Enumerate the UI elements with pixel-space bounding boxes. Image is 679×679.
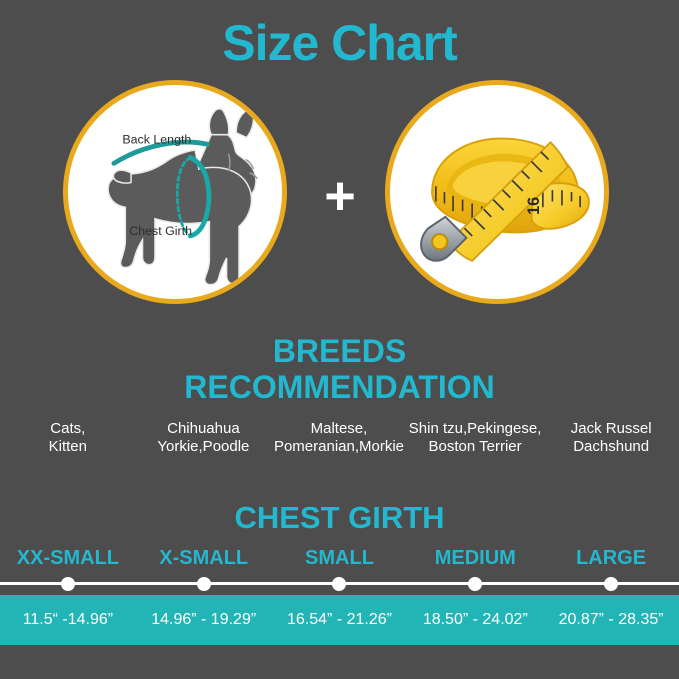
breed-cell: Maltese, Pomeranian,Morkie [271,420,407,456]
breed-line: Jack Russel [545,420,677,438]
breed-cell: Chihuahua Yorkie,Poodle [136,420,272,456]
tape-number-label: 16 [525,197,543,215]
measurement-bar: 11.5“ -14.96” 14.96” - 19.29” 16.54” - 2… [0,595,679,645]
breed-line: Kitten [2,438,134,456]
breed-line: Chihuahua [138,420,270,438]
breed-line: Pomeranian,Morkie [273,438,405,456]
measurement-large: 20.87” - 28.35” [543,611,679,629]
breeds-heading-line2: RECOMMENDATION [0,369,679,405]
breed-line: Yorkie,Poodle [138,438,270,456]
size-label-xxsmall: XX-SMALL [0,547,136,570]
size-labels-row: XX-SMALL X-SMALL SMALL MEDIUM LARGE [0,547,679,570]
dog-measurement-icon: Back Length Chest Girth [68,85,282,299]
breed-line: Dachshund [545,438,677,456]
breed-line: Shin tzu,Pekingese, [409,420,542,438]
illustration-row: Back Length Chest Girth + [0,80,679,308]
axis-dot-wrap [272,576,408,592]
axis-dot-medium [468,577,482,591]
size-label-medium: MEDIUM [407,547,543,570]
measuring-tape-circle: 16 [385,80,609,304]
breeds-heading: BREEDS RECOMMENDATION [0,333,679,405]
axis-dot-xxsmall [61,577,75,591]
chest-girth-label: Chest Girth [129,224,192,238]
axis-dot-xsmall [197,577,211,591]
measurement-medium: 18.50” - 24.02” [407,611,543,629]
measurement-xxsmall: 11.5“ -14.96” [0,611,136,629]
plus-icon: + [310,168,370,228]
axis-dot-small [332,577,346,591]
back-length-label: Back Length [122,132,191,146]
measurement-xsmall: 14.96” - 19.29” [136,611,272,629]
axis-dots [0,576,679,592]
breed-line: Boston Terrier [409,438,542,456]
breed-cell: Jack Russel Dachshund [543,420,679,456]
size-axis [0,576,679,592]
tape-tip-rivet [432,234,447,249]
chest-girth-heading: CHEST GIRTH [0,500,679,536]
size-chart-page: Size Chart [0,0,679,679]
axis-dot-large [604,577,618,591]
breed-line: Maltese, [273,420,405,438]
axis-dot-wrap [407,576,543,592]
size-label-small: SMALL [272,547,408,570]
measuring-tape-icon: 16 [390,85,604,299]
breed-cell: Shin tzu,Pekingese, Boston Terrier [407,420,544,456]
size-label-xsmall: X-SMALL [136,547,272,570]
breeds-heading-line1: BREEDS [0,333,679,369]
breed-cell: Cats, Kitten [0,420,136,456]
axis-dot-wrap [0,576,136,592]
axis-dot-wrap [543,576,679,592]
dog-diagram-circle: Back Length Chest Girth [63,80,287,304]
breeds-row: Cats, Kitten Chihuahua Yorkie,Poodle Mal… [0,420,679,456]
measurement-small: 16.54” - 21.26” [272,611,408,629]
axis-dot-wrap [136,576,272,592]
size-label-large: LARGE [543,547,679,570]
page-title: Size Chart [0,17,679,70]
breed-line: Cats, [2,420,134,438]
